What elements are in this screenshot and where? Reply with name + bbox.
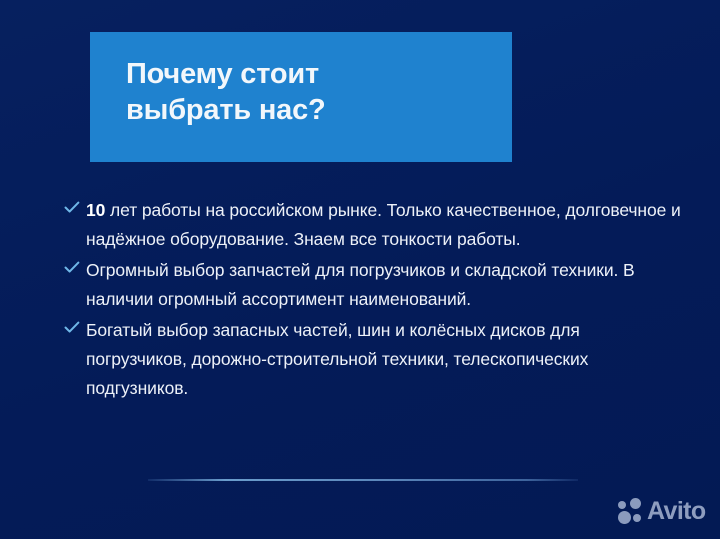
divider [148,479,578,481]
list-item: 10 лет работы на российском рынке. Тольк… [64,196,684,254]
list-item-text: 10 лет работы на российском рынке. Тольк… [86,196,684,254]
list-item-body: лет работы на российском рынке. Только к… [86,200,681,249]
benefits-list: 10 лет работы на российском рынке. Тольк… [64,196,684,405]
list-item-lead: 10 [86,200,105,220]
check-icon [64,256,86,274]
list-item: Богатый выбор запасных частей, шин и кол… [64,316,684,403]
list-item-body: Богатый выбор запасных частей, шин и кол… [86,320,588,398]
slide-canvas: Почему стоит выбрать нас? 10 лет работы … [0,0,720,539]
check-icon [64,196,86,214]
avito-dots-icon [618,498,644,524]
title-banner: Почему стоит выбрать нас? [90,32,512,162]
list-item-text: Богатый выбор запасных частей, шин и кол… [86,316,684,403]
list-item-text: Огромный выбор запчастей для погрузчиков… [86,256,684,314]
check-icon [64,316,86,334]
avito-watermark: Avito [618,498,706,524]
list-item-body: Огромный выбор запчастей для погрузчиков… [86,260,635,309]
avito-wordmark: Avito [647,498,706,524]
page-title-line-1: Почему стоит [126,56,512,92]
list-item: Огромный выбор запчастей для погрузчиков… [64,256,684,314]
page-title-line-2: выбрать нас? [126,92,512,128]
